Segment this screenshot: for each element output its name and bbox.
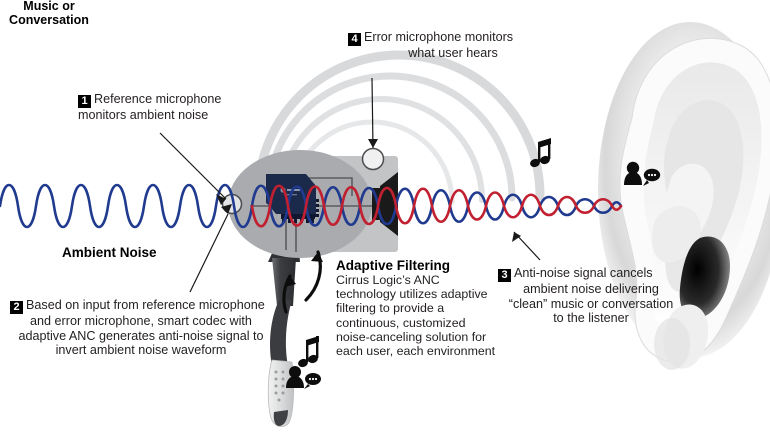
- adaptive-line-6: each user, each environment: [336, 344, 496, 358]
- adaptive-filtering-heading: Adaptive Filtering: [336, 258, 496, 273]
- error-microphone-icon: [363, 149, 384, 170]
- callout-1-line-1: Reference microphone: [94, 92, 221, 106]
- callout-1-line-2: monitors ambient noise: [78, 108, 268, 123]
- ambient-noise-label: Ambient Noise: [62, 245, 157, 260]
- callout-4: 4Error microphone monitors what user hea…: [348, 30, 558, 61]
- adaptive-line-5: noise-canceling solution for: [336, 330, 496, 344]
- adaptive-line-3: filtering to provide a: [336, 301, 496, 315]
- adaptive-line-2: technology utilizes adaptive: [336, 287, 496, 301]
- callout-3: 3Anti-noise signal cancels ambient noise…: [498, 266, 684, 326]
- person-speech-bubble-icon: [286, 366, 321, 389]
- callout-2-line-4: invert ambient noise waveform: [10, 343, 272, 358]
- callout-2-line-3: adaptive ANC generates anti-noise signal…: [10, 329, 272, 344]
- callout-4-line-1: Error microphone monitors: [364, 30, 513, 44]
- badge-4: 4: [348, 33, 361, 46]
- callout-3-line-1: Anti-noise signal cancels: [514, 266, 653, 280]
- music-note-icon: [297, 336, 319, 368]
- badge-1: 1: [78, 95, 91, 108]
- callout-3-line-3: “clean” music or conversation: [498, 297, 684, 312]
- anc-diagram: 1Reference microphone monitors ambient n…: [0, 0, 770, 432]
- callout-4-line-2: what user hears: [348, 46, 558, 61]
- adaptive-filtering-block: Adaptive Filtering Cirrus Logic’s ANC te…: [336, 258, 496, 358]
- callout-1: 1Reference microphone monitors ambient n…: [78, 92, 268, 123]
- diagram-artwork: [0, 0, 770, 432]
- badge-3: 3: [498, 269, 511, 282]
- callout-3-line-2: ambient noise delivering: [498, 282, 684, 297]
- callout-2-line-1: Based on input from reference microphone: [26, 298, 265, 312]
- badge-2: 2: [10, 301, 23, 314]
- callout-3-line-4: to the listener: [498, 311, 684, 326]
- adaptive-line-1: Cirrus Logic’s ANC: [336, 273, 496, 287]
- callout-2: 2Based on input from reference microphon…: [10, 298, 272, 358]
- callout-2-line-2: and error microphone, smart codec with: [10, 314, 272, 329]
- adaptive-line-4: continuous, customized: [336, 316, 496, 330]
